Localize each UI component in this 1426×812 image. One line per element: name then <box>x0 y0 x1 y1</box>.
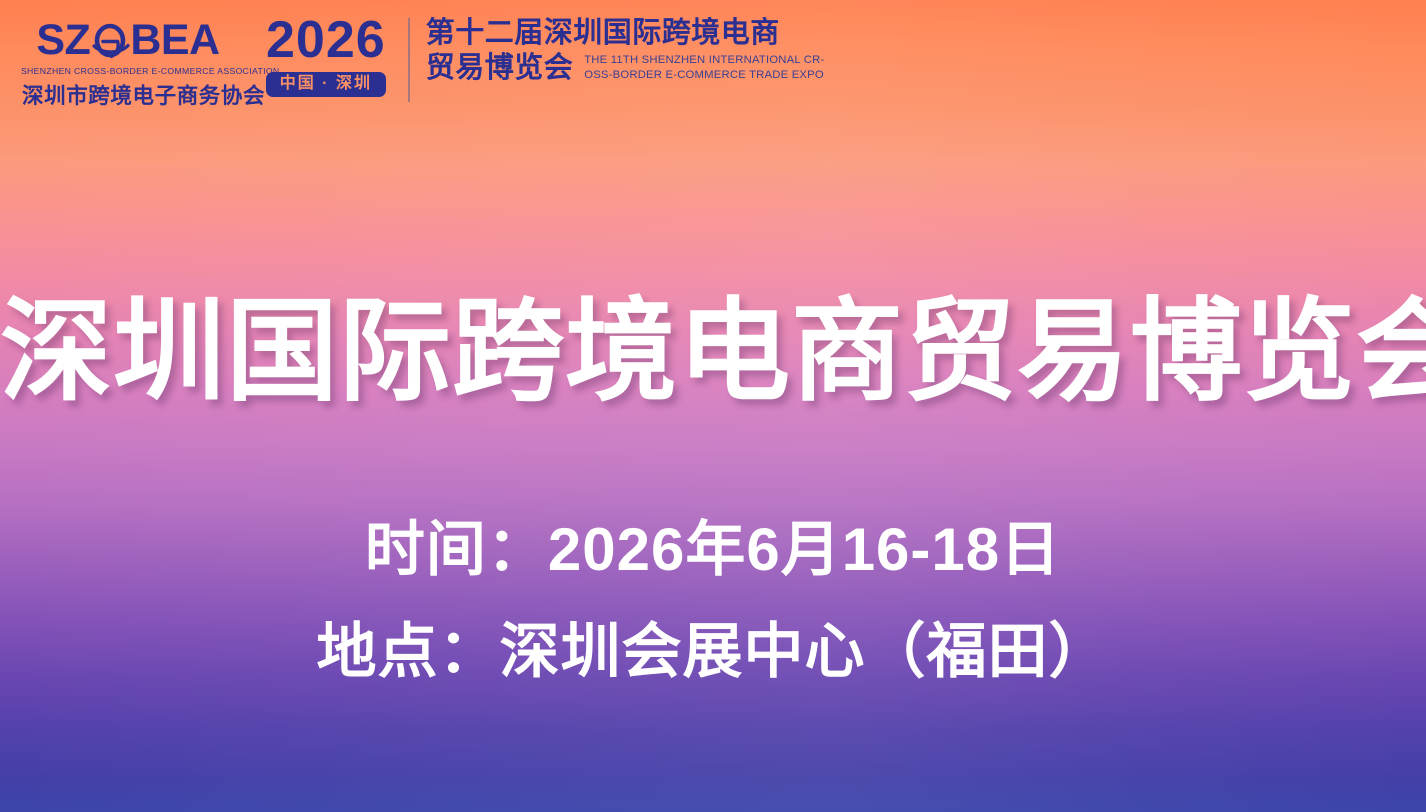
header-divider <box>408 18 410 102</box>
stylized-e-icon <box>90 20 130 62</box>
banner-header: SZ BEA SHENZHEN CROSS-BORDER E-COMMERCE … <box>0 0 1426 122</box>
association-chinese-name: 深圳市跨境电子商务协会 <box>22 79 234 110</box>
wordmark-sz: SZ <box>36 19 90 62</box>
event-venue-line: 地点：深圳会展中心（福田） <box>0 622 1426 682</box>
expo-english-line2: OSS-BORDER E-COMMERCE TRADE EXPO <box>584 68 824 83</box>
association-logo: SZ BEA SHENZHEN CROSS-BORDER E-COMMERCE … <box>22 18 234 110</box>
expo-title-row2: 贸易博览会 THE 11TH SHENZHEN INTERNATIONAL CR… <box>426 53 825 85</box>
expo-title-lockup: 第十二届深圳国际跨境电商 贸易博览会 THE 11TH SHENZHEN INT… <box>426 17 825 85</box>
year-number: 2026 <box>266 14 386 66</box>
expo-promo-banner: SZ BEA SHENZHEN CROSS-BORDER E-COMMERCE … <box>0 0 1426 812</box>
event-info-block: 时间：2026年6月16-18日 地点：深圳会展中心（福田） <box>0 520 1426 682</box>
expo-title-line1: 第十二届深圳国际跨境电商 <box>426 17 825 51</box>
wordmark-bea: BEA <box>130 19 219 62</box>
expo-title-english: THE 11TH SHENZHEN INTERNATIONAL CR- OSS-… <box>584 53 824 83</box>
year-block: 2026 中国 · 深圳 <box>266 14 386 97</box>
main-title: 深圳国际跨境电商贸易博览会 <box>0 296 1426 408</box>
association-wordmark: SZ BEA <box>22 18 234 63</box>
event-date-line: 时间：2026年6月16-18日 <box>0 520 1426 580</box>
association-english-name: SHENZHEN CROSS-BORDER E-COMMERCE ASSOCIA… <box>21 66 235 76</box>
expo-english-line1: THE 11TH SHENZHEN INTERNATIONAL CR- <box>584 53 824 68</box>
location-badge: 中国 · 深圳 <box>266 72 386 97</box>
expo-title-line2: 贸易博览会 <box>426 53 574 85</box>
